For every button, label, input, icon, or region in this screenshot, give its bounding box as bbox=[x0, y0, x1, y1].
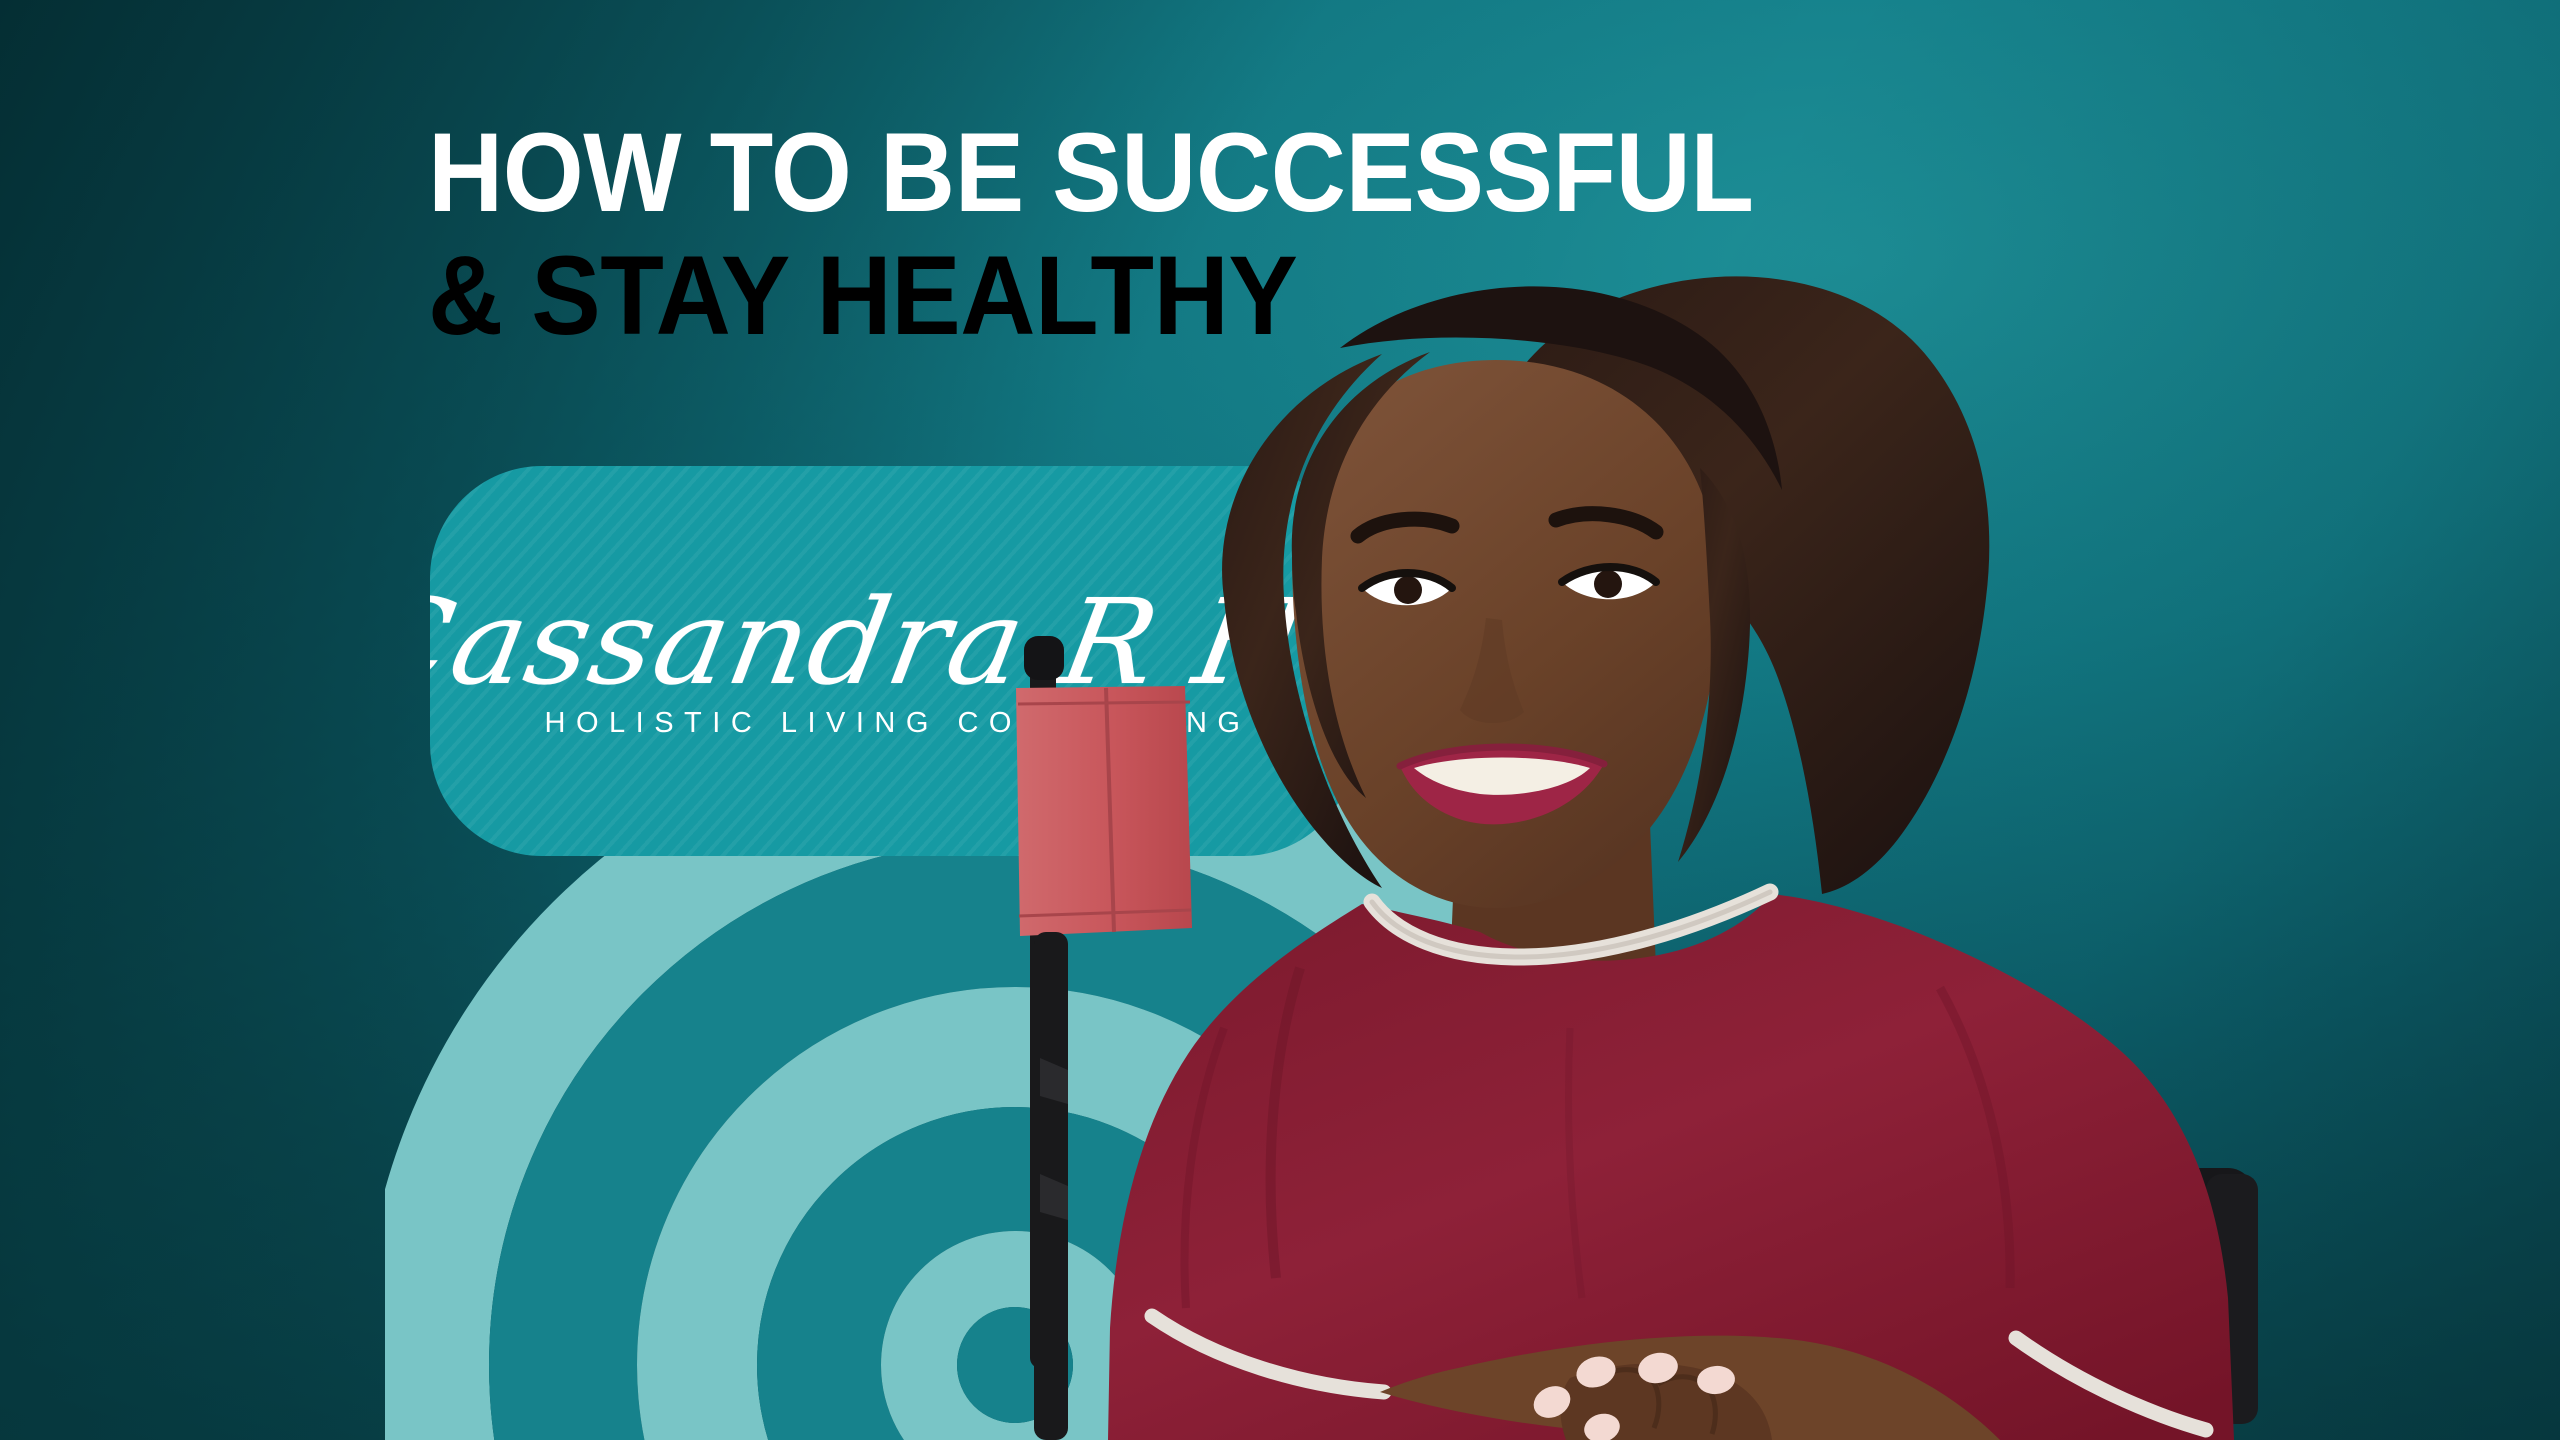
brand-tagline: HOLISTIC LIVING CONSULTING bbox=[535, 707, 1251, 740]
promo-banner: HOW TO BE SUCCESSFUL & STAY HEALTHY Cass… bbox=[0, 0, 2560, 1440]
headline-line-1: HOW TO BE SUCCESSFUL bbox=[428, 118, 2009, 229]
headline-block: HOW TO BE SUCCESSFUL & STAY HEALTHY bbox=[428, 118, 2128, 364]
brand-name-script: Cassandra R Hill bbox=[430, 583, 1355, 701]
logo-badge-content: Cassandra R Hill HOLISTIC LIVING CONSULT… bbox=[430, 466, 1355, 856]
headline-line-2: & STAY HEALTHY bbox=[428, 241, 2009, 352]
logo-badge: Cassandra R Hill HOLISTIC LIVING CONSULT… bbox=[430, 466, 1355, 856]
